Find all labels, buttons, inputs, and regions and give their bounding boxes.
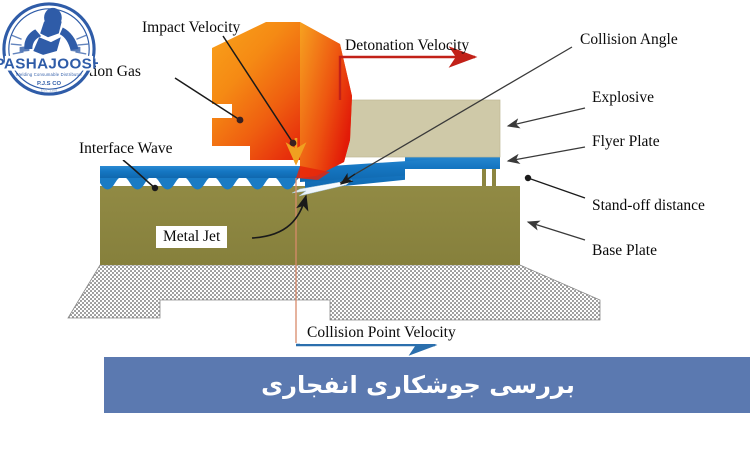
label-base-plate: Base Plate [592, 243, 657, 259]
label-impact-velocity: Impact Velocity [142, 20, 240, 36]
bottom-banner: بررسی جوشکاری انفجاری [104, 357, 750, 413]
banner-title-fa: بررسی جوشکاری انفجاری [261, 371, 593, 399]
diagram-canvas: Impact Velocity Detonation Gas Interface… [0, 0, 750, 450]
detonation-velocity-arrow [340, 57, 475, 100]
label-interface-wave: Interface Wave [72, 138, 180, 160]
label-detonation-velocity: Detonation Velocity [345, 38, 469, 54]
logo-company-text: P.J.S CO [37, 81, 61, 87]
detonation-gas-cloud [212, 22, 352, 180]
ground-shadow [68, 265, 600, 320]
label-collision-angle: Collision Angle [580, 32, 678, 48]
label-explosive: Explosive [592, 90, 654, 106]
pashajoosh-logo[interactable]: PASHAJOOSH Welding Consumable Distributo… [0, 0, 98, 98]
label-flyer-plate: Flyer Plate [592, 134, 660, 150]
label-metal-jet: Metal Jet [156, 226, 227, 248]
logo-established-text: EST. 1388 [41, 89, 57, 93]
label-standoff-distance: Stand-off distance [592, 198, 705, 214]
logo-tagline-text: Welding Consumable Distributor [16, 72, 83, 77]
explosive-block [340, 100, 500, 157]
label-collision-point-velocity: Collision Point Velocity [300, 322, 463, 344]
standoff-gap [405, 169, 500, 186]
logo-brand-text: PASHAJOOSH [0, 56, 98, 73]
